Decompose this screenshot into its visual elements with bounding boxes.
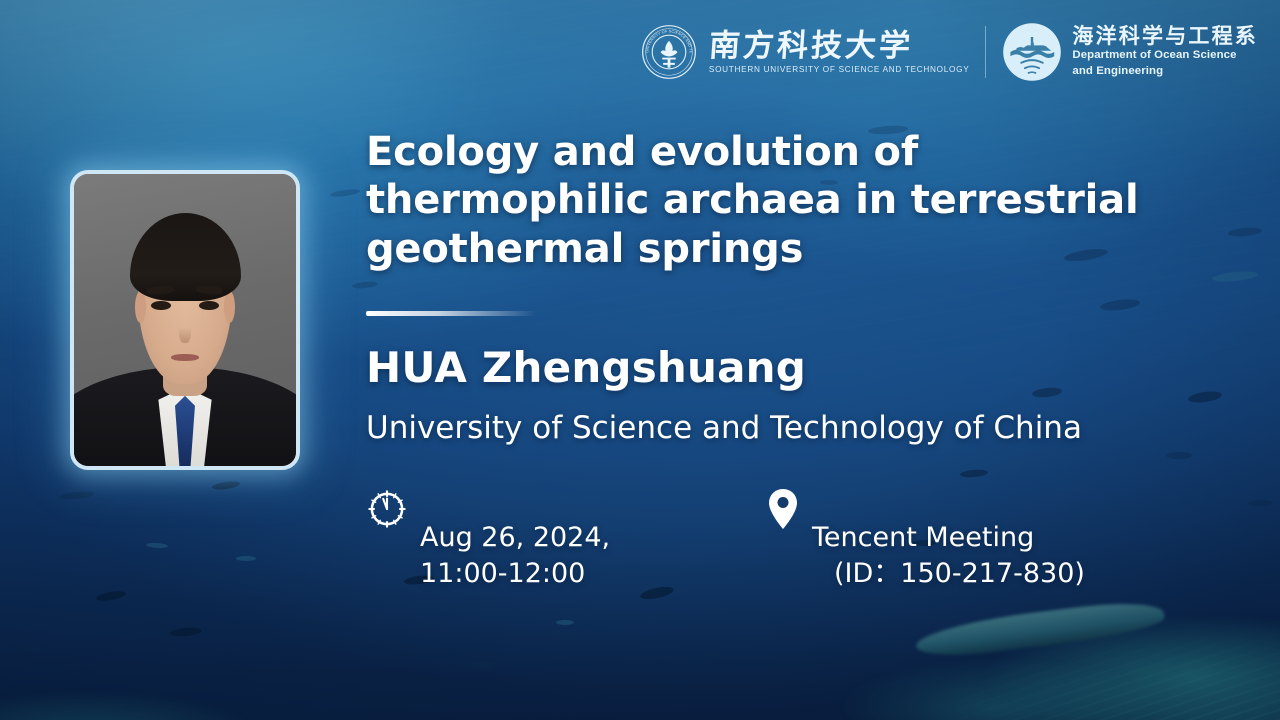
datetime-line2: 11:00-12:00 [420,556,610,592]
seminar-title: Ecology and evolution of thermophilic ar… [366,128,1206,273]
venue-line2: (ID：150-217-830) [812,556,1085,592]
sustech-name-cn: 南方科技大学 [708,31,971,62]
speaker-name: HUA Zhengshuang [366,345,806,391]
department-logo: 海洋科学与工程系 Department of Ocean Science and… [1002,22,1258,82]
seminar-poster: SOUTHERN UNIVERSITY OF SCIENCE AND TECHN… [0,0,1280,720]
speaker-affiliation: University of Science and Technology of … [366,411,1082,447]
ocean-ship-badge-icon [1002,22,1062,82]
seminar-meta: Aug 26, 2024, 11:00-12:00 Tencent Meetin… [366,484,1085,629]
department-name-en-line1: Department of Ocean Science [1072,49,1258,63]
sustech-logo: SOUTHERN UNIVERSITY OF SCIENCE AND TECHN… [641,24,969,80]
portrait-photo [74,174,296,466]
datetime-text: Aug 26, 2024, 11:00-12:00 [420,484,610,629]
venue-text: Tencent Meeting (ID：150-217-830) [812,484,1085,629]
seminar-venue: Tencent Meeting (ID：150-217-830) [766,484,1085,629]
sustech-seal-icon: SOUTHERN UNIVERSITY OF SCIENCE AND TECHN… [641,24,697,80]
header-logos: SOUTHERN UNIVERSITY OF SCIENCE AND TECHN… [641,22,1258,82]
sustech-name-en: SOUTHERN UNIVERSITY OF SCIENCE AND TECHN… [709,65,969,74]
seminar-datetime: Aug 26, 2024, 11:00-12:00 [366,484,766,629]
sustech-wordmark: 南方科技大学 SOUTHERN UNIVERSITY OF SCIENCE AN… [709,31,969,74]
department-name-en-line2: and Engineering [1072,65,1258,79]
title-divider [366,311,536,316]
department-name-cn: 海洋科学与工程系 [1072,25,1258,47]
datetime-line1: Aug 26, 2024, [420,522,610,553]
venue-line1: Tencent Meeting [812,522,1034,553]
department-wordmark: 海洋科学与工程系 Department of Ocean Science and… [1072,25,1258,78]
speaker-portrait [70,170,300,470]
logo-divider [985,26,986,78]
clock-icon [366,488,408,530]
location-pin-icon [766,488,800,530]
